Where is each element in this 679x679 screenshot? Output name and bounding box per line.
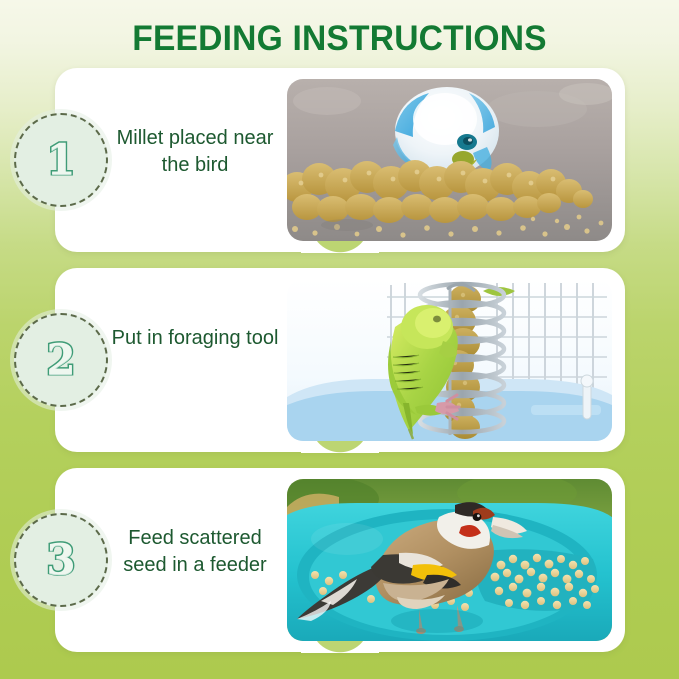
step-number-1: 1 — [46, 139, 75, 181]
step-text-3: Feed scattered seed in a feeder — [108, 525, 282, 579]
page-title: FEEDING INSTRUCTIONS — [14, 18, 666, 60]
step-badge-3: 3 — [14, 513, 108, 607]
budgie-millet-photo — [287, 79, 612, 241]
goldfinch-feeder-photo — [287, 479, 612, 641]
feeding-instructions-infographic: FEEDING INSTRUCTIONS — [0, 0, 679, 679]
step-text-2: Put in foraging tool — [108, 325, 282, 352]
step-image-3 — [287, 479, 612, 641]
step-number-3: 3 — [46, 539, 75, 581]
step-badge-1: 1 — [14, 113, 108, 207]
step-image-2 — [287, 279, 612, 441]
step-badge-2: 2 — [14, 313, 108, 407]
step-text-1: Millet placed near the bird — [108, 125, 282, 179]
foraging-tool-photo — [287, 279, 612, 441]
step-number-2: 2 — [46, 339, 75, 381]
step-image-1 — [287, 79, 612, 241]
